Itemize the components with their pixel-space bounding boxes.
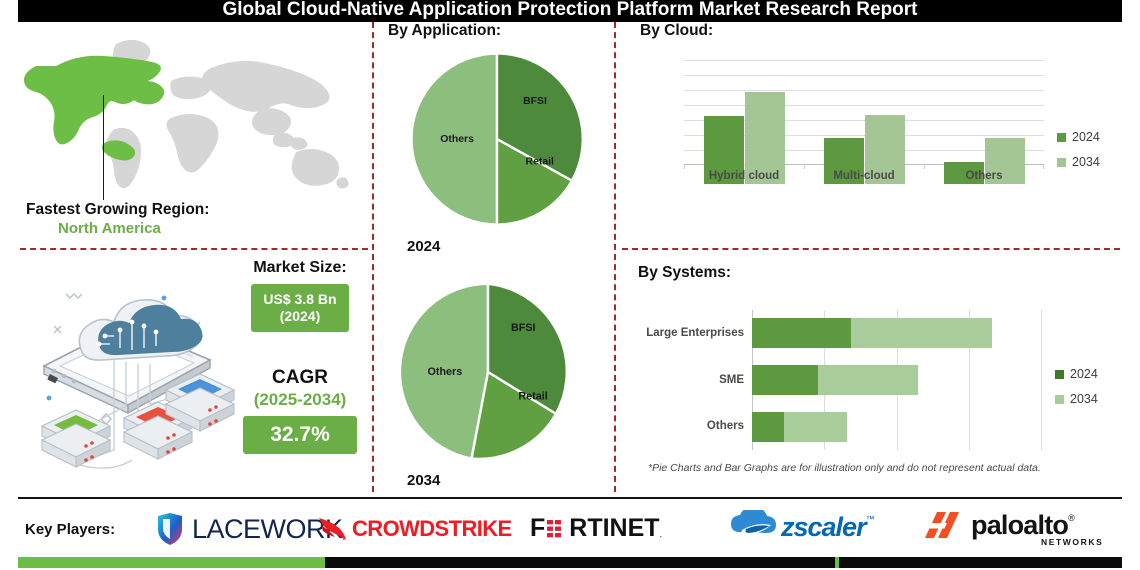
by-systems-category-labels: Large Enterprises SME Others [624,310,744,450]
cagr-badge: 32.7% [243,416,357,454]
h-seg-sme-2024 [752,365,818,395]
h-label-sme: SME [624,357,744,404]
world-map [8,26,364,198]
legend-item-2034: 2034 [1057,155,1100,169]
by-systems-bar-chart [752,310,1042,450]
world-map-icon [8,26,364,198]
h-label-large-enterprises: Large Enterprises [624,310,744,357]
pie-slice-label-retail: Retail [518,390,547,402]
bottom-bar-black [325,557,1122,568]
pie-slice-label-bfsi: BFSI [511,322,536,334]
zscaler-wordmark: zscaler [781,512,866,543]
footer-divider [18,497,1122,499]
cloud-server-illustration [14,278,236,486]
by-cloud-heading: By Cloud: [640,22,713,40]
paloalto-registered: ® [1068,509,1075,523]
h-bar-row-others [752,412,1042,442]
legend-item-2034: 2034 [1055,392,1098,406]
pie-slice-label-retail: Retail [526,157,555,168]
divider-horizontal-right [622,248,1120,250]
paloalto-subtext: NETWORKS [1041,537,1103,547]
cagr-value: 32.7% [270,423,330,447]
h-bar-rows [752,310,1042,450]
bar-chart-x-labels: Hybrid cloud Multi-cloud Others [684,170,1044,182]
infographic-page: Global Cloud-Native Application Protecti… [0,0,1140,570]
x-label-multi-cloud: Multi-cloud [804,170,924,182]
market-size-year: (2024) [280,308,320,325]
legend-label-2034: 2034 [1070,392,1098,406]
crowdstrike-wordmark: CROWDSTRIKE [352,516,512,542]
market-size-value: US$ 3.8 Bn [263,291,336,308]
legend-label-2024: 2024 [1072,130,1100,144]
paloalto-wordmark: paloalto [971,510,1068,541]
divider-horizontal-left [20,248,368,250]
zscaler-tm: ™ [866,510,875,524]
h-label-others: Others [624,403,744,450]
pie-chart-2034: BFSI Retail Others [390,274,586,470]
h-seg-others-2034 [784,412,847,442]
fastest-growing-region-block: Fastest Growing Region: North America [26,200,336,238]
by-cloud-bar-chart: Hybrid cloud Multi-cloud Others [684,60,1044,185]
fortinet-tm: . [660,529,663,543]
region-title: Fastest Growing Region: [26,200,336,219]
zscaler-logo[interactable]: zscaler ™ [730,510,875,544]
h-bar-row-large-enterprises [752,318,1042,348]
h-bar-row-sme [752,365,1042,395]
shield-icon [155,512,185,546]
north-america-highlight [24,56,164,161]
by-application-heading: By Application: [388,22,501,40]
diagonal-bars-icon [925,509,965,541]
pie-chart-2024: BFSI Retail Others [402,44,592,234]
bar-chart-bars [684,80,1044,184]
market-size-badge: US$ 3.8 Bn (2024) [251,284,349,332]
cagr-heading: CAGR [230,366,370,389]
fortinet-wordmark-a: F [530,514,545,543]
pie-slice-label-bfsi: BFSI [523,96,547,107]
bottom-bar-tick [835,557,839,568]
legend-item-2024: 2024 [1057,130,1100,144]
falcon-swoosh-icon [318,514,350,544]
cloud-server-isometric-icon [14,278,236,486]
lacework-logo[interactable]: LACEWORK . [155,512,345,546]
crowdstrike-logo[interactable]: CROWDSTRIKE [318,514,512,544]
x-label-hybrid-cloud: Hybrid cloud [684,170,804,182]
divider-vertical-right [614,22,616,492]
header-bar: Global Cloud-Native Application Protecti… [18,0,1122,22]
legend-label-2024: 2024 [1070,367,1098,381]
dot-matrix-o-icon [546,518,568,540]
fortinet-logo[interactable]: F RTINET . [530,514,662,543]
market-stats-block: Market Size: US$ 3.8 Bn (2024) CAGR (202… [230,258,370,454]
chart-footnote: *Pie Charts and Bar Graphs are for illus… [648,462,1078,474]
legend-swatch-2024 [1055,370,1064,379]
h-seg-sme-2034 [818,365,918,395]
h-seg-others-2024 [752,412,784,442]
h-seg-large-2024 [752,318,851,348]
legend-label-2034: 2034 [1072,155,1100,169]
divider-vertical-left [372,22,374,492]
by-systems-legend: 2024 2034 [1055,367,1098,406]
by-systems-heading: By Systems: [638,264,731,282]
region-value: North America [26,219,336,238]
pie-year-2024: 2024 [407,238,440,255]
h-seg-large-2034 [851,318,992,348]
fortinet-wordmark-b: RTINET [569,514,659,543]
legend-swatch-2024 [1057,133,1066,142]
x-label-others: Others [924,170,1044,182]
bottom-bar-green [18,557,325,568]
legend-item-2024: 2024 [1055,367,1098,381]
cagr-years: (2025-2034) [230,389,370,410]
by-cloud-legend: 2024 2034 [1057,130,1100,169]
legend-swatch-2034 [1057,158,1066,167]
cloud-swirl-icon [730,510,778,544]
pie-slice-label-others: Others [440,134,474,145]
map-pointer-line [103,95,104,200]
legend-swatch-2034 [1055,395,1064,404]
pie-year-2034: 2034 [407,472,440,489]
market-size-heading: Market Size: [230,258,370,278]
pie-slice-label-others: Others [428,366,463,378]
key-players-label: Key Players: [25,521,115,538]
page-title: Global Cloud-Native Application Protecti… [222,0,917,19]
